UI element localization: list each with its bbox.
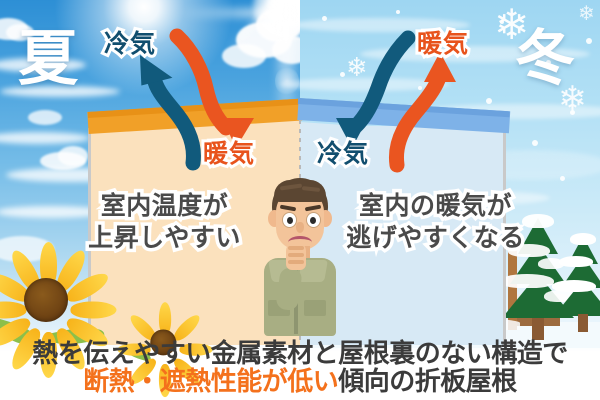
snow-dot [322,16,327,21]
summer-description-line2: 上昇しやすい [72,222,257,254]
finger [288,253,304,257]
snow-dot [586,38,592,44]
cloud-icon [222,44,266,68]
snow-dot [560,176,565,181]
worried-worker-character [258,176,342,336]
snow-dot [340,72,345,77]
label-summer-warm-air: 暖気 [203,134,255,170]
winter-description-line2: 逃げやすくなる [338,222,533,254]
eye [306,212,321,228]
cloud-icon [0,132,90,144]
illustration-canvas: ❄ ❄ ❄ ❄ ❄ ❄ [0,0,600,400]
snow-dot [486,98,492,104]
caption-rest: 傾向の折板屋根 [338,366,517,396]
label-winter-warm-air: 暖気 [417,24,469,60]
caption-line-1: 熱を伝えやすい金属素材と屋根裏のない構造で [0,340,600,367]
snow-dot [532,140,538,146]
snow-dot [418,86,422,90]
snowflake-icon: ❄ [578,4,595,24]
cloud-icon [58,146,88,166]
jacket-pocket [304,300,326,316]
nose [296,222,304,233]
season-label-summer: 夏 [18,10,80,97]
finger [288,246,304,250]
eye [282,212,297,228]
label-summer-cold-air: 冷気 [104,24,156,60]
summer-description-line1: 室内温度が [72,190,257,222]
season-label-winter: 冬 [515,10,577,97]
winter-description: 室内の暖気が 逃げやすくなる [338,190,533,254]
winter-description-line1: 室内の暖気が [338,190,533,222]
snowflake-icon: ❄ [346,54,368,80]
caption-line-2: 断熱・遮熱性能が低い傾向の折板屋根 [0,367,600,397]
caption-highlight: 断熱・遮熱性能が低い [83,366,338,396]
summer-description: 室内温度が 上昇しやすい [72,190,257,254]
sunflower-icon [0,248,102,348]
cloud-icon [28,110,62,125]
finger [288,260,304,264]
snow-dot [396,10,400,14]
label-winter-cold-air: 冷気 [317,134,369,170]
caption: 熱を伝えやすい金属素材と屋根裏のない構造で 断熱・遮熱性能が低い傾向の折板屋根 [0,340,600,397]
